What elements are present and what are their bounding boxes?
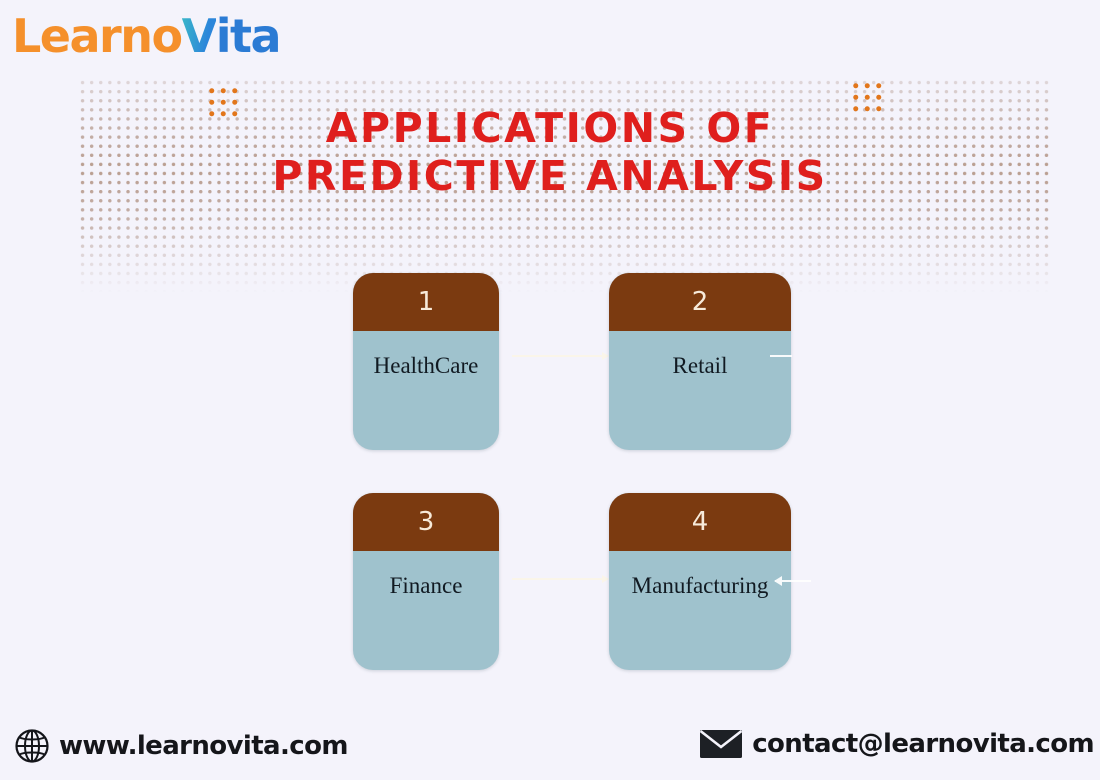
card-healthcare[interactable]: 1 HealthCare <box>353 273 499 450</box>
footer: www.learnovita.com contact@learnovita.co… <box>0 716 1100 772</box>
footer-email[interactable]: contact@learnovita.com <box>699 728 1094 760</box>
card-body: Finance <box>353 551 499 670</box>
card-number-badge: 4 <box>609 493 791 551</box>
card-label: HealthCare <box>374 353 479 378</box>
card-label: Retail <box>673 353 728 378</box>
footer-website-text: www.learnovita.com <box>59 731 348 761</box>
card-body: HealthCare <box>353 331 499 450</box>
card-label: Manufacturing <box>632 573 769 598</box>
globe-icon <box>14 728 50 764</box>
connector-arrow-1-to-2 <box>512 355 608 357</box>
footer-email-text: contact@learnovita.com <box>752 729 1094 759</box>
slide-canvas: LearnoVita APPLICATIONS OF PREDICTIVE AN… <box>0 0 1100 780</box>
card-manufacturing[interactable]: 4 Manufacturing <box>609 493 791 670</box>
card-body: Retail <box>609 331 791 450</box>
edge-arrow-card-4 <box>775 580 811 582</box>
card-number-badge: 3 <box>353 493 499 551</box>
card-number-badge: 1 <box>353 273 499 331</box>
card-label: Finance <box>390 573 463 598</box>
envelope-icon <box>699 728 743 760</box>
card-body: Manufacturing <box>609 551 791 670</box>
edge-marker-card-2 <box>770 355 792 357</box>
card-number-badge: 2 <box>609 273 791 331</box>
application-card-grid: 1 HealthCare 2 Retail 3 Finance 4 Manufa… <box>0 0 1100 780</box>
connector-arrow-3-to-4 <box>512 578 608 580</box>
footer-website[interactable]: www.learnovita.com <box>14 728 348 764</box>
card-retail[interactable]: 2 Retail <box>609 273 791 450</box>
card-finance[interactable]: 3 Finance <box>353 493 499 670</box>
